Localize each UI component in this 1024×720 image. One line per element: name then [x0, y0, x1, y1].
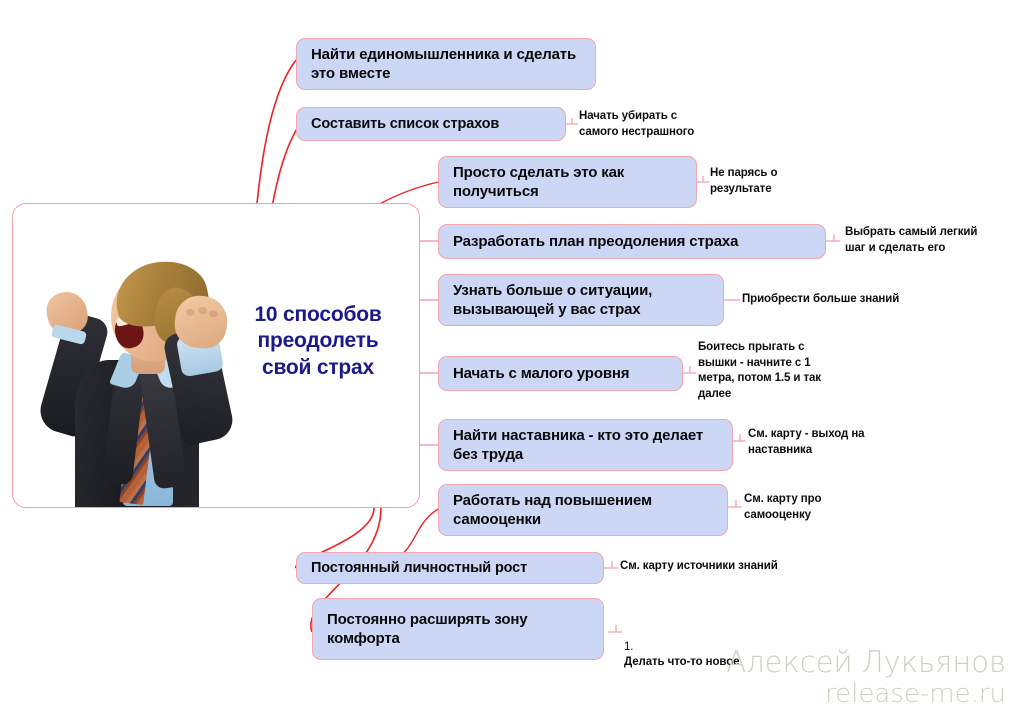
watermark-author: Алексей Лукьянов	[726, 645, 1006, 679]
knuckle-3	[209, 310, 219, 318]
branch-node-3[interactable]: Просто сделать это как получиться	[438, 156, 697, 208]
branch-node-2[interactable]: Составить список страхов	[296, 107, 566, 141]
leaf-stub-7	[733, 434, 746, 441]
leaf-stub-8	[728, 500, 742, 507]
knuckle-2	[198, 307, 208, 315]
leaf-stub-4	[826, 234, 840, 241]
mindmap-canvas: 10 способов преодолеть свой страх Найти …	[0, 0, 1024, 720]
watermark-site: release-me.ru	[726, 679, 1006, 710]
branch-node-7[interactable]: Найти наставника - кто это делает без тр…	[438, 419, 733, 471]
leaf-label-10-text: Делать что-то новое	[624, 656, 739, 668]
leaf-label-2: Начать убирать с самого нестрашного	[579, 109, 749, 140]
leaf-label-7: См. карту - выход на наставника	[748, 427, 913, 458]
branch-node-8[interactable]: Работать над повышением самооценки	[438, 484, 728, 536]
knuckle-1	[186, 308, 196, 316]
leaf-label-9: См. карту источники знаний	[620, 559, 850, 575]
leaf-label-8: См. карту про самооценку	[744, 492, 894, 523]
branch-node-4[interactable]: Разработать план преодоления страха	[438, 224, 826, 259]
leaf-label-10-number: 1.	[624, 641, 633, 653]
leaf-stub-9	[604, 561, 618, 568]
leaf-label-5: Приобрести больше знаний	[742, 292, 972, 308]
central-node[interactable]: 10 способов преодолеть свой страх	[12, 203, 420, 508]
branch-node-5[interactable]: Узнать больше о ситуации, вызывающей у в…	[438, 274, 724, 326]
leaf-stub-3	[697, 176, 709, 182]
branch-node-10[interactable]: Постоянно расширять зону комфорта	[312, 598, 604, 660]
leaf-label-4: Выбрать самый легкий шаг и сделать его	[845, 225, 1020, 256]
leaf-stub-6	[683, 366, 696, 373]
central-title: 10 способов преодолеть свой страх	[225, 302, 411, 381]
branch-node-1[interactable]: Найти единомышленника и сделать это вмес…	[296, 38, 596, 90]
leaf-stub-10	[608, 625, 622, 632]
leaf-label-6: Боитесь прыгать с вышки - начните с 1 ме…	[698, 340, 878, 402]
leaf-stub-2	[566, 118, 578, 124]
cheering-businessman-photo	[23, 244, 241, 504]
leaf-label-3: Не парясь о результате	[710, 166, 860, 197]
branch-node-6[interactable]: Начать с малого уровня	[438, 356, 683, 391]
branch-node-9[interactable]: Постоянный личностный рост	[296, 552, 604, 584]
watermark: Алексей Лукьянов release-me.ru	[726, 645, 1006, 710]
